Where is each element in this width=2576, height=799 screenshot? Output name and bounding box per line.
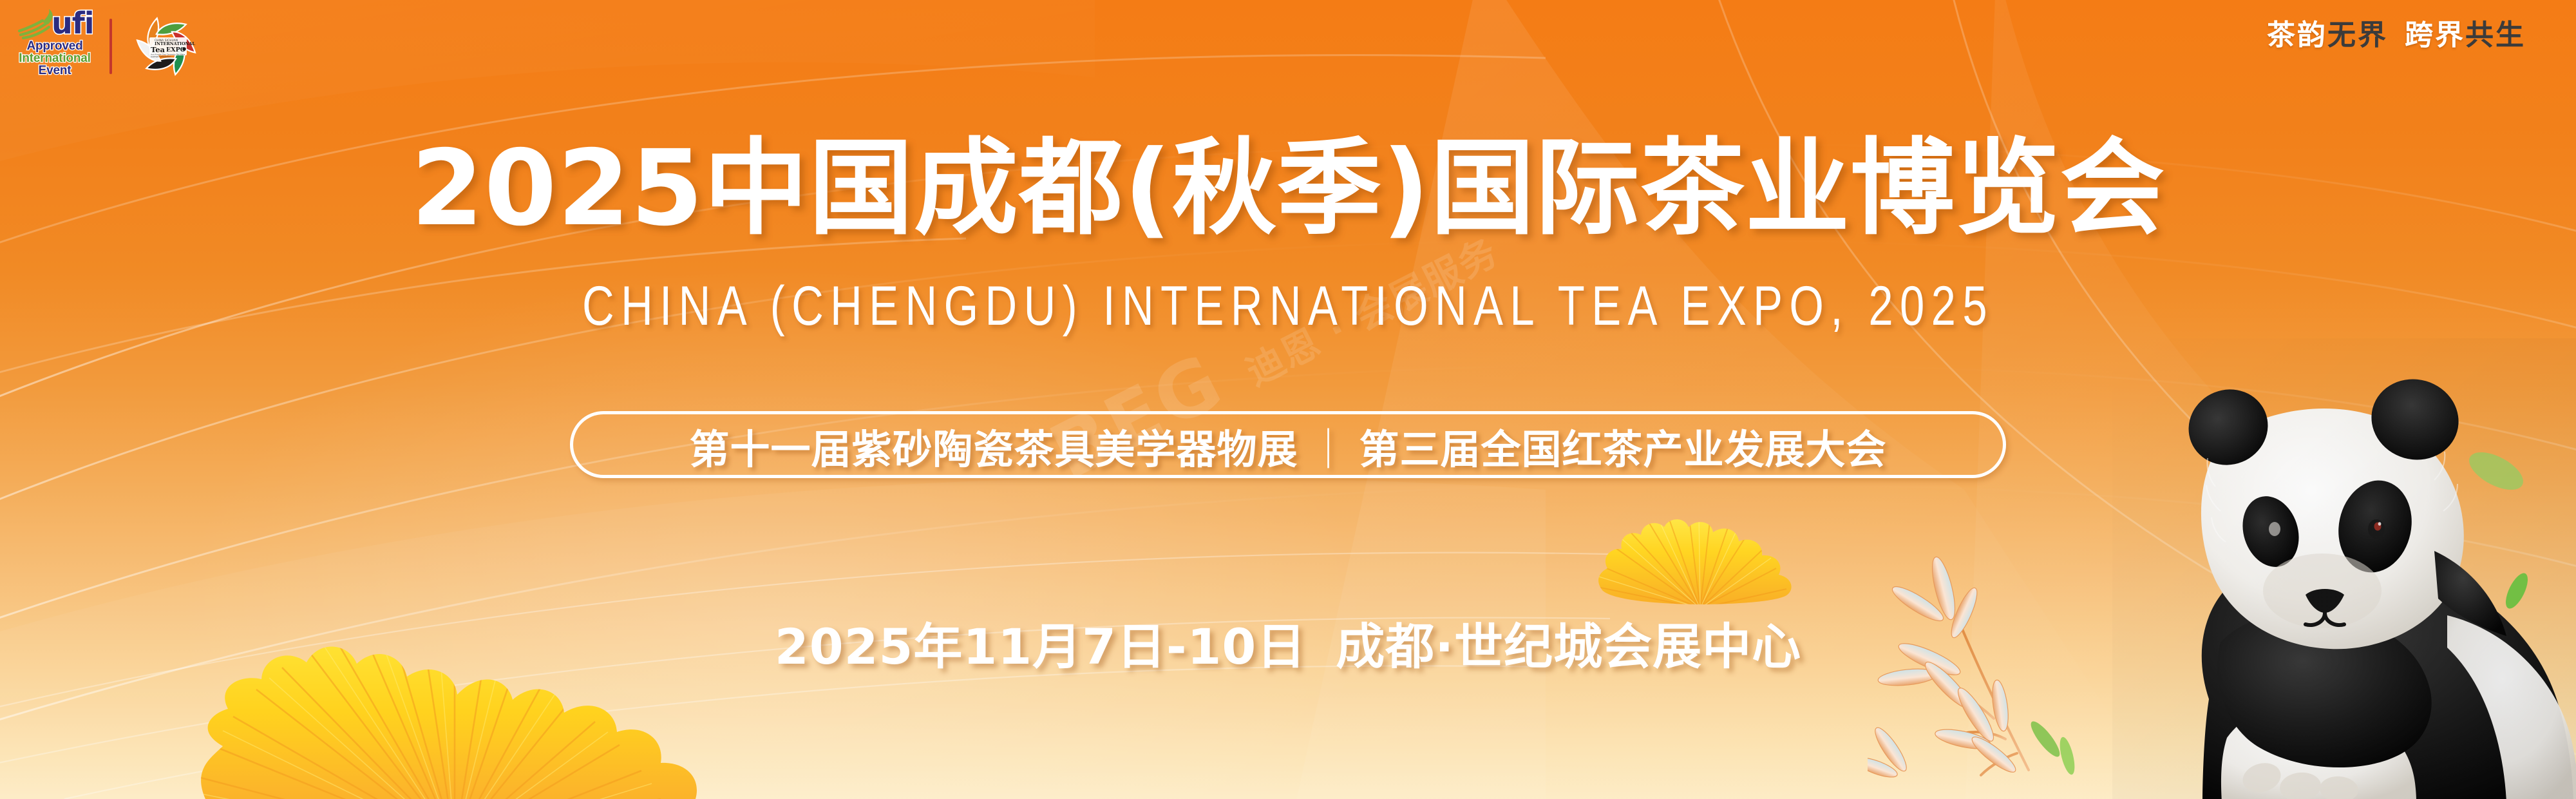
- logo-divider: [109, 19, 112, 74]
- sub-banner-pill: 第十一届紫砂陶瓷茶具美学器物展｜第三届全国红茶产业发展大会: [570, 411, 2006, 478]
- sub-banner-right: 第三届全国红茶产业发展大会: [1359, 426, 1887, 473]
- sub-banner-separator: ｜: [1298, 417, 1359, 475]
- svg-text:Aesthetics Exhibition: Aesthetics Exhibition: [151, 55, 171, 58]
- slogan-part-2: 无界: [2327, 19, 2388, 52]
- ufi-line-international: International: [19, 52, 90, 64]
- sub-banner-text: 第十一届紫砂陶瓷茶具美学器物展｜第三届全国红茶产业发展大会: [689, 417, 1886, 475]
- event-venue: 成都·世纪城会展中心: [1336, 618, 1801, 675]
- logo-bar: ufi Approved International Event CHINA S…: [17, 5, 204, 88]
- page-title-chinese: 2025中国成都(秋季)国际茶业博览会: [0, 137, 2576, 241]
- slogan-part-3: 跨界: [2405, 19, 2465, 52]
- event-dates: 2025年11月7日-10日: [775, 618, 1306, 675]
- sub-banner-left: 第十一届紫砂陶瓷茶具美学器物展: [689, 426, 1298, 473]
- expo-banner: ufi Approved International Event CHINA S…: [0, 0, 2576, 799]
- svg-text:ufi: ufi: [52, 6, 93, 40]
- ufi-line-event: Event: [19, 64, 90, 77]
- slogan-part-1: 茶韵: [2267, 19, 2327, 52]
- slogan-part-4: 共生: [2465, 19, 2526, 52]
- slogan: 茶韵无界跨界共生: [2267, 12, 2526, 53]
- ufi-wordmark-icon: ufi: [17, 6, 93, 40]
- giant-panda-illustration: [2112, 338, 2576, 799]
- ufi-logo: ufi Approved International Event: [17, 6, 93, 86]
- ginkgo-leaf-small: [1591, 515, 1810, 609]
- ufi-line-approved: Approved: [19, 40, 90, 52]
- bamboo-sprig: [1868, 486, 2151, 786]
- page-title-english: CHINA (CHENGDU) INTERNATIONAL TEA EXPO, …: [258, 278, 2318, 334]
- tea-expo-logo-icon: CHINA SICHUAN INTERNATIONAL Tea EXPO And…: [129, 9, 204, 84]
- svg-text:EXPO: EXPO: [166, 46, 185, 53]
